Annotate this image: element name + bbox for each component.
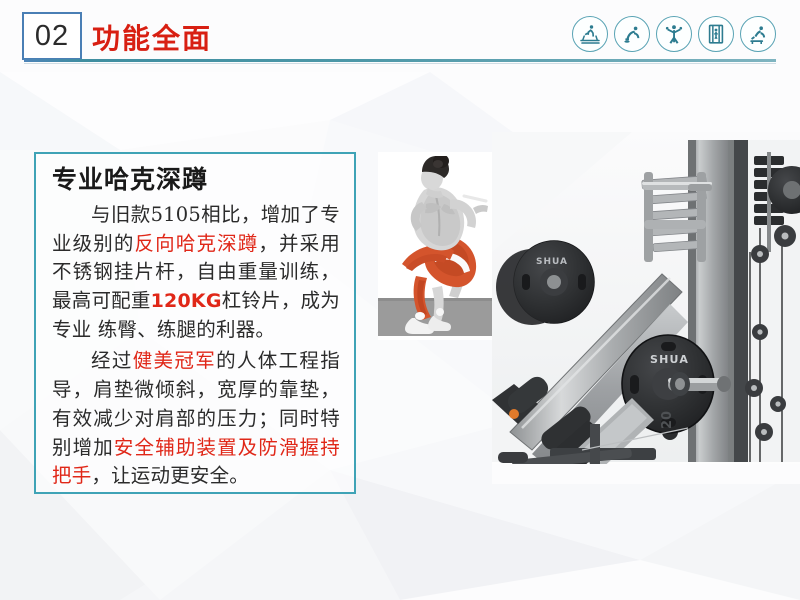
p2-highlight-1: 健美冠军	[133, 349, 216, 372]
p1-highlight-1: 反向哈克深蹲	[135, 232, 259, 255]
header-divider	[24, 59, 776, 62]
slide-root: 02 功能全面	[0, 0, 800, 600]
gym-station-icon[interactable]	[698, 16, 734, 52]
section-number: 02	[35, 22, 69, 51]
hack-squat-machine-photo: SHUA 20 SHUA	[492, 132, 800, 484]
card-paragraph-1: 与旧款5105相比，增加了专业级别的反向哈克深蹲，并采用不锈钢挂片杆，自由重量训…	[52, 201, 340, 345]
p2-seg3: ，让运动更安全。	[91, 464, 249, 487]
p2-seg1: 经过	[91, 349, 133, 372]
recumbent-bike-icon[interactable]	[614, 16, 650, 52]
header-divider-shadow	[24, 63, 776, 64]
treadmill-icon[interactable]	[572, 16, 608, 52]
card-title: 专业哈克深蹲	[52, 166, 340, 195]
svg-text:20: 20	[660, 411, 675, 429]
section-number-box: 02	[22, 12, 82, 60]
rowing-bench-icon[interactable]	[740, 16, 776, 52]
description-card: 专业哈克深蹲 与旧款5105相比，增加了专业级别的反向哈克深蹲，并采用不锈钢挂片…	[34, 152, 356, 494]
person-raised-arms-icon[interactable]	[656, 16, 692, 52]
fitness-icon-row	[572, 16, 776, 52]
svg-text:SHUA: SHUA	[650, 353, 689, 366]
p1-highlight-2: 120KG	[151, 290, 222, 312]
page-title: 功能全面	[92, 17, 212, 57]
card-paragraph-2: 经过健美冠军的人体工程指导，肩垫微倾斜，宽厚的靠垫，有效减少对肩部的压力；同时特…	[52, 347, 340, 491]
slide-header: 02 功能全面	[0, 0, 800, 72]
squat-anatomy-illustration	[378, 152, 498, 340]
svg-text:SHUA: SHUA	[536, 257, 568, 267]
